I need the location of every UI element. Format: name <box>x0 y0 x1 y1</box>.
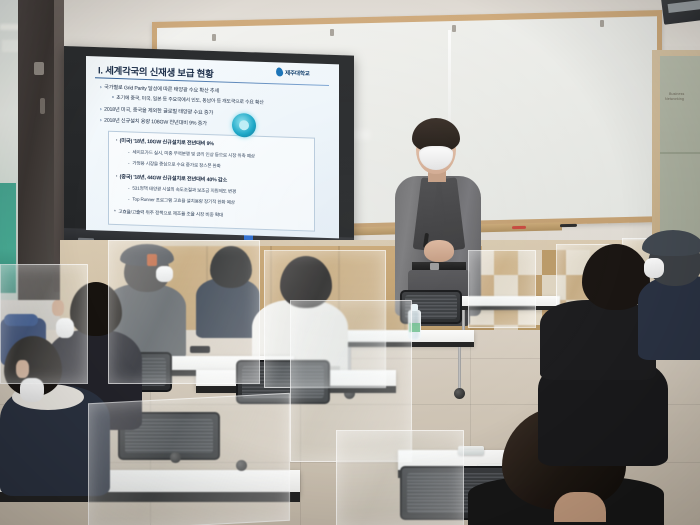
whiteboard-clip <box>452 25 456 32</box>
student-right-face-mask <box>644 258 664 278</box>
signage-divider <box>660 152 700 154</box>
whiteboard-clip <box>330 29 334 36</box>
presenter-clasped-hands <box>424 240 454 262</box>
door-handle[interactable] <box>40 98 45 114</box>
presentation-slide: I. 세계각국의 신재생 보급 현황 제주대학교 국가별로 Grid Parit… <box>86 56 339 238</box>
signage-line-2: Networking <box>665 97 684 102</box>
slide-bullet-4: 2018년 신규설치 용량 108GW 전년대비 9% 증가 <box>100 116 207 127</box>
slide-bullet-3: 2018년 미국, 중국을 제외한 글로벌 태양광 수요 증가 <box>100 105 213 116</box>
signage-panel: Business Networking <box>660 56 700 242</box>
acrylic-partition <box>88 393 290 525</box>
classroom-photo: Business Networking I. 세계각국의 신재생 보급 현황 제… <box>0 0 700 525</box>
presenter-belt-buckle <box>430 263 439 270</box>
university-name: 제주대학교 <box>285 68 310 77</box>
acrylic-partition <box>108 240 260 384</box>
ceiling-light-strip <box>0 24 20 30</box>
water-bottle-cap <box>411 304 418 311</box>
red-marker[interactable] <box>512 226 526 229</box>
acrylic-partition <box>336 430 464 525</box>
university-logo: 제주대학교 <box>276 67 310 77</box>
slide-bullet-2: 초기에 중국, 미국, 일본 등 주요국에서 인도, 동남아 등 개도국으로 수… <box>112 94 264 106</box>
acrylic-partition <box>468 250 536 328</box>
desk-leg <box>458 347 461 391</box>
student-right-blue-torso <box>638 276 700 360</box>
slide-bullet-1: 국가별로 Grid Parity 달성에 따른 태양광 수요 확산 추세 <box>100 83 219 94</box>
whiteboard-clip <box>212 34 216 41</box>
water-drop-logo-icon <box>275 67 284 77</box>
door-hinge <box>34 62 44 75</box>
teal-circle-graphic-icon <box>232 113 256 138</box>
black-marker[interactable] <box>560 224 577 227</box>
whiteboard-clip <box>600 20 604 27</box>
acrylic-partition <box>0 264 88 384</box>
student-foreground-neck <box>554 492 606 522</box>
chair-castor <box>454 388 465 399</box>
